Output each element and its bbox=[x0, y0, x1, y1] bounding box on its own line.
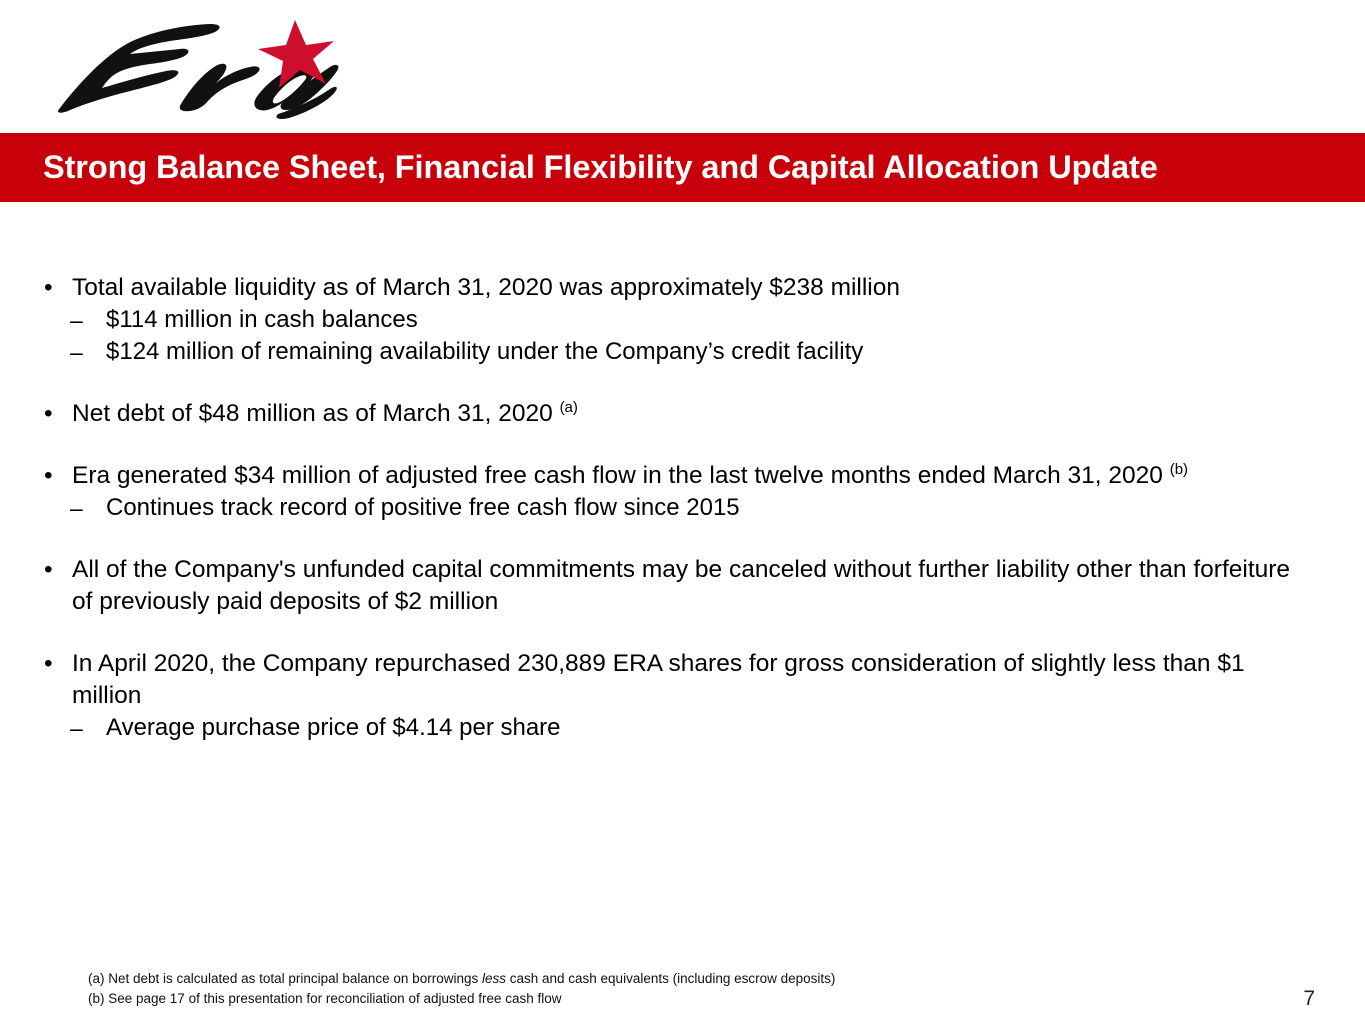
footnote-ref-a: (a) bbox=[560, 399, 578, 416]
bullet-group-4: • All of the Company's unfunded capital … bbox=[0, 554, 1365, 618]
star-icon bbox=[258, 20, 334, 88]
sub-bullet-item: – $124 million of remaining availability… bbox=[0, 336, 1365, 368]
page-number: 7 bbox=[1303, 988, 1315, 1009]
bullet-text: All of the Company's unfunded capital co… bbox=[72, 554, 1317, 618]
spacer bbox=[0, 368, 1365, 398]
bullet-item: • Net debt of $48 million as of March 31… bbox=[0, 398, 1365, 430]
bullet-group-3: • Era generated $34 million of adjusted … bbox=[0, 460, 1365, 524]
bullet-marker-icon: • bbox=[44, 648, 72, 680]
dash-marker-icon: – bbox=[70, 712, 106, 744]
bullet-group-1: • Total available liquidity as of March … bbox=[0, 272, 1365, 368]
slide-title: Strong Balance Sheet, Financial Flexibil… bbox=[0, 151, 1158, 184]
footnote-b: (b) See page 17 of this presentation for… bbox=[88, 989, 835, 1009]
footnote-a: (a) Net debt is calculated as total prin… bbox=[88, 969, 835, 989]
footnote-a-suffix: cash and cash equivalents (including esc… bbox=[506, 971, 835, 986]
bullet-item: • Total available liquidity as of March … bbox=[0, 272, 1365, 304]
footnote-a-italic: less bbox=[482, 971, 506, 986]
slide-title-band: Strong Balance Sheet, Financial Flexibil… bbox=[0, 133, 1365, 202]
era-logo bbox=[42, 14, 342, 122]
sub-bullet-text: Average purchase price of $4.14 per shar… bbox=[106, 712, 1346, 744]
bullet-marker-icon: • bbox=[44, 460, 72, 492]
spacer bbox=[0, 430, 1365, 460]
bullet-group-2: • Net debt of $48 million as of March 31… bbox=[0, 398, 1365, 430]
bullet-text-main: Era generated $34 million of adjusted fr… bbox=[72, 462, 1170, 489]
slide-body: • Total available liquidity as of March … bbox=[0, 272, 1365, 744]
footnote-ref-b: (b) bbox=[1170, 461, 1188, 478]
bullet-marker-icon: • bbox=[44, 272, 72, 304]
bullet-item: • Era generated $34 million of adjusted … bbox=[0, 460, 1365, 492]
bullet-marker-icon: • bbox=[44, 554, 72, 586]
sub-bullet-item: – $114 million in cash balances bbox=[0, 304, 1365, 336]
dash-marker-icon: – bbox=[70, 336, 106, 368]
bullet-item: • All of the Company's unfunded capital … bbox=[0, 554, 1365, 618]
dash-marker-icon: – bbox=[70, 492, 106, 524]
spacer bbox=[0, 618, 1365, 648]
sub-bullet-text: $124 million of remaining availability u… bbox=[106, 336, 1346, 368]
footnotes: (a) Net debt is calculated as total prin… bbox=[88, 969, 835, 1008]
sub-bullet-item: – Average purchase price of $4.14 per sh… bbox=[0, 712, 1365, 744]
bullet-group-5: • In April 2020, the Company repurchased… bbox=[0, 648, 1365, 744]
bullet-text: Total available liquidity as of March 31… bbox=[72, 272, 1317, 304]
bullet-item: • In April 2020, the Company repurchased… bbox=[0, 648, 1365, 712]
bullet-text: Net debt of $48 million as of March 31, … bbox=[72, 398, 1317, 430]
sub-bullet-item: – Continues track record of positive fre… bbox=[0, 492, 1365, 524]
sub-bullet-text: $114 million in cash balances bbox=[106, 304, 1346, 336]
bullet-marker-icon: • bbox=[44, 398, 72, 430]
bullet-text-main: Net debt of $48 million as of March 31, … bbox=[72, 400, 560, 427]
sub-bullet-text: Continues track record of positive free … bbox=[106, 492, 1346, 524]
dash-marker-icon: – bbox=[70, 304, 106, 336]
footnote-a-prefix: (a) Net debt is calculated as total prin… bbox=[88, 971, 482, 986]
bullet-text: In April 2020, the Company repurchased 2… bbox=[72, 648, 1317, 712]
spacer bbox=[0, 524, 1365, 554]
bullet-text: Era generated $34 million of adjusted fr… bbox=[72, 460, 1317, 492]
